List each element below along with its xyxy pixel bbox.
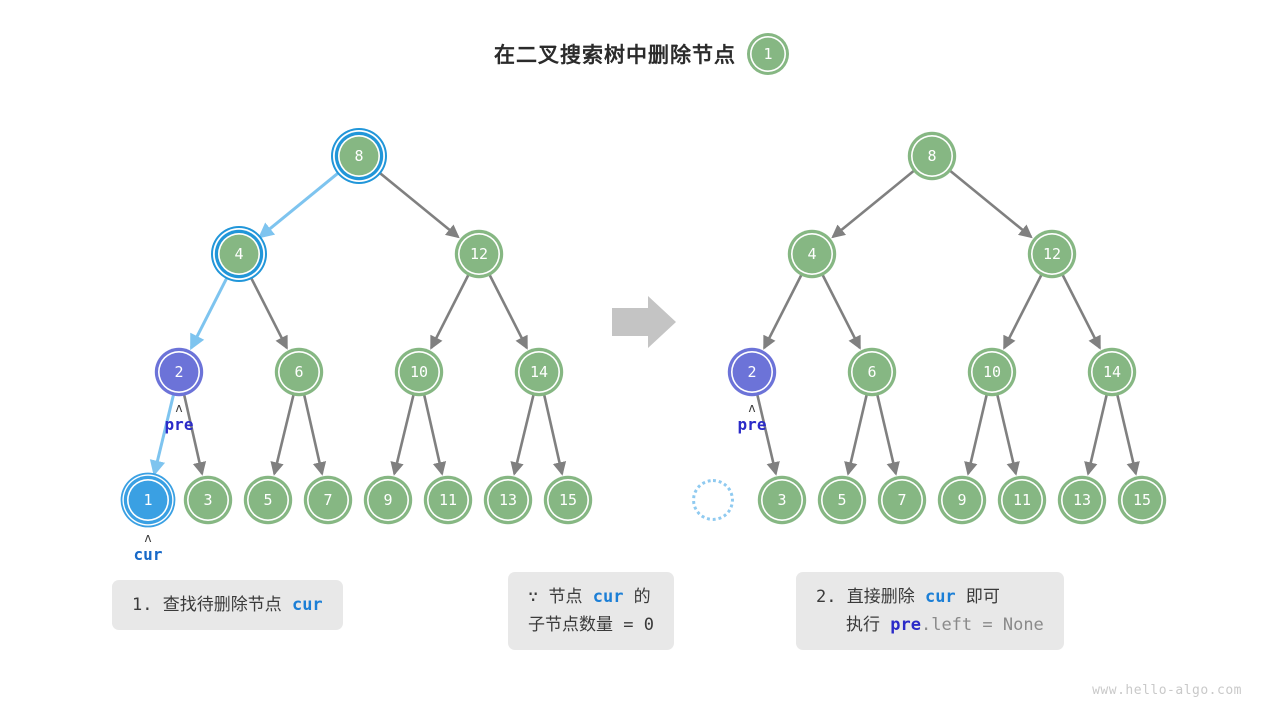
tree-edge [184, 393, 202, 473]
tree-node-10[interactable]: 10 [398, 351, 440, 393]
tree-edge [968, 393, 987, 473]
tree-node-5[interactable]: 5 [247, 479, 289, 521]
tree-node-7[interactable]: 7 [307, 479, 349, 521]
caption-step2-line1-code: cur [925, 587, 956, 607]
page-title: 在二叉搜索树中删除节点 1 [0, 36, 1280, 72]
tree-node-6[interactable]: 6 [851, 351, 893, 393]
tree-edge [1004, 274, 1042, 348]
tree-edge [424, 393, 442, 473]
tree-edge [431, 274, 469, 348]
tree-node-13[interactable]: 13 [487, 479, 529, 521]
tree-edge [154, 393, 173, 473]
tree-node-7[interactable]: 7 [881, 479, 923, 521]
tree-node-5[interactable]: 5 [821, 479, 863, 521]
caption-step1-text: 1. 查找待删除节点 [132, 595, 292, 615]
tree-node-15[interactable]: 15 [1121, 479, 1163, 521]
tree-node-9[interactable]: 9 [367, 479, 409, 521]
caption-reason: ∵ 节点 cur 的 子节点数量 = 0 [508, 572, 674, 650]
tree-node-12[interactable]: 12 [1031, 233, 1073, 275]
caption-reason-line2: 子节点数量 = 0 [528, 611, 654, 639]
tree-node-11[interactable]: 11 [1001, 479, 1043, 521]
caption-reason-line1-suffix: 的 [623, 587, 650, 607]
tree-edge [249, 274, 287, 348]
caption-step2-line2: 执行 pre.left = None [816, 611, 1044, 639]
step-badge: 1 [750, 36, 786, 72]
tree-edge [489, 274, 527, 348]
caption-step2-line2-prefix: 执行 [846, 615, 890, 635]
tree-edge [260, 170, 342, 237]
tree-edge [949, 170, 1031, 237]
caption-step1-code: cur [292, 595, 323, 615]
tree-node-13[interactable]: 13 [1061, 479, 1103, 521]
caption-step2-line1: 2. 直接删除 cur 即可 [816, 583, 1044, 611]
tree-edge [304, 393, 322, 473]
tree-edge [848, 393, 867, 473]
tree-node-3[interactable]: 3 [761, 479, 803, 521]
tree-node-11[interactable]: 11 [427, 479, 469, 521]
watermark: www.hello-algo.com [1092, 683, 1242, 698]
tree-node-1[interactable]: 1 [127, 479, 169, 521]
caption-step2-line2-suffix: .left = None [921, 615, 1044, 635]
tree-edge [544, 393, 562, 473]
tree-node-8[interactable]: 8 [911, 135, 953, 177]
transition-arrow-icon [612, 296, 676, 348]
caption-reason-line1-prefix: ∵ 节点 [528, 587, 593, 607]
tree-edge [833, 170, 915, 237]
tree-edge [514, 393, 533, 473]
tree-edge [394, 393, 413, 473]
tree-node-10[interactable]: 10 [971, 351, 1013, 393]
tree-edge [274, 393, 293, 473]
tree-node-6[interactable]: 6 [278, 351, 320, 393]
tree-node-4[interactable]: 4 [791, 233, 833, 275]
tree-node-3[interactable]: 3 [187, 479, 229, 521]
tree-node-4[interactable]: 4 [218, 233, 260, 275]
tree-node-12[interactable]: 12 [458, 233, 500, 275]
tree-node-14[interactable]: 14 [518, 351, 560, 393]
tree-node-2[interactable]: 2 [158, 351, 200, 393]
tree-node-15[interactable]: 15 [547, 479, 589, 521]
tree-edge [764, 274, 802, 348]
tree-edge [1117, 393, 1136, 473]
caption-reason-line1-code: cur [593, 587, 624, 607]
caption-step2-line2-code: pre [890, 615, 921, 635]
tree-edge [997, 393, 1016, 473]
tree-edge [191, 274, 229, 348]
tree-edge [822, 274, 860, 348]
caption-step2-line1-suffix: 即可 [956, 587, 1000, 607]
tree-edge [877, 393, 896, 473]
tree-edge [757, 393, 776, 473]
caption-step1: 1. 查找待删除节点 cur [112, 580, 343, 630]
tree-edge [376, 170, 458, 237]
tree-edge [1088, 393, 1107, 473]
tree-node-14[interactable]: 14 [1091, 351, 1133, 393]
tree-node-removed-placeholder[interactable] [692, 479, 734, 521]
tree-node-9[interactable]: 9 [941, 479, 983, 521]
caption-reason-line1: ∵ 节点 cur 的 [528, 583, 654, 611]
tree-edge [1062, 274, 1100, 348]
tree-node-8[interactable]: 8 [338, 135, 380, 177]
tree-node-2[interactable]: 2 [731, 351, 773, 393]
caption-step2-line1-prefix: 2. 直接删除 [816, 587, 925, 607]
page-title-text: 在二叉搜索树中删除节点 [494, 39, 736, 69]
caption-step2: 2. 直接删除 cur 即可 执行 pre.left = None [796, 572, 1064, 650]
